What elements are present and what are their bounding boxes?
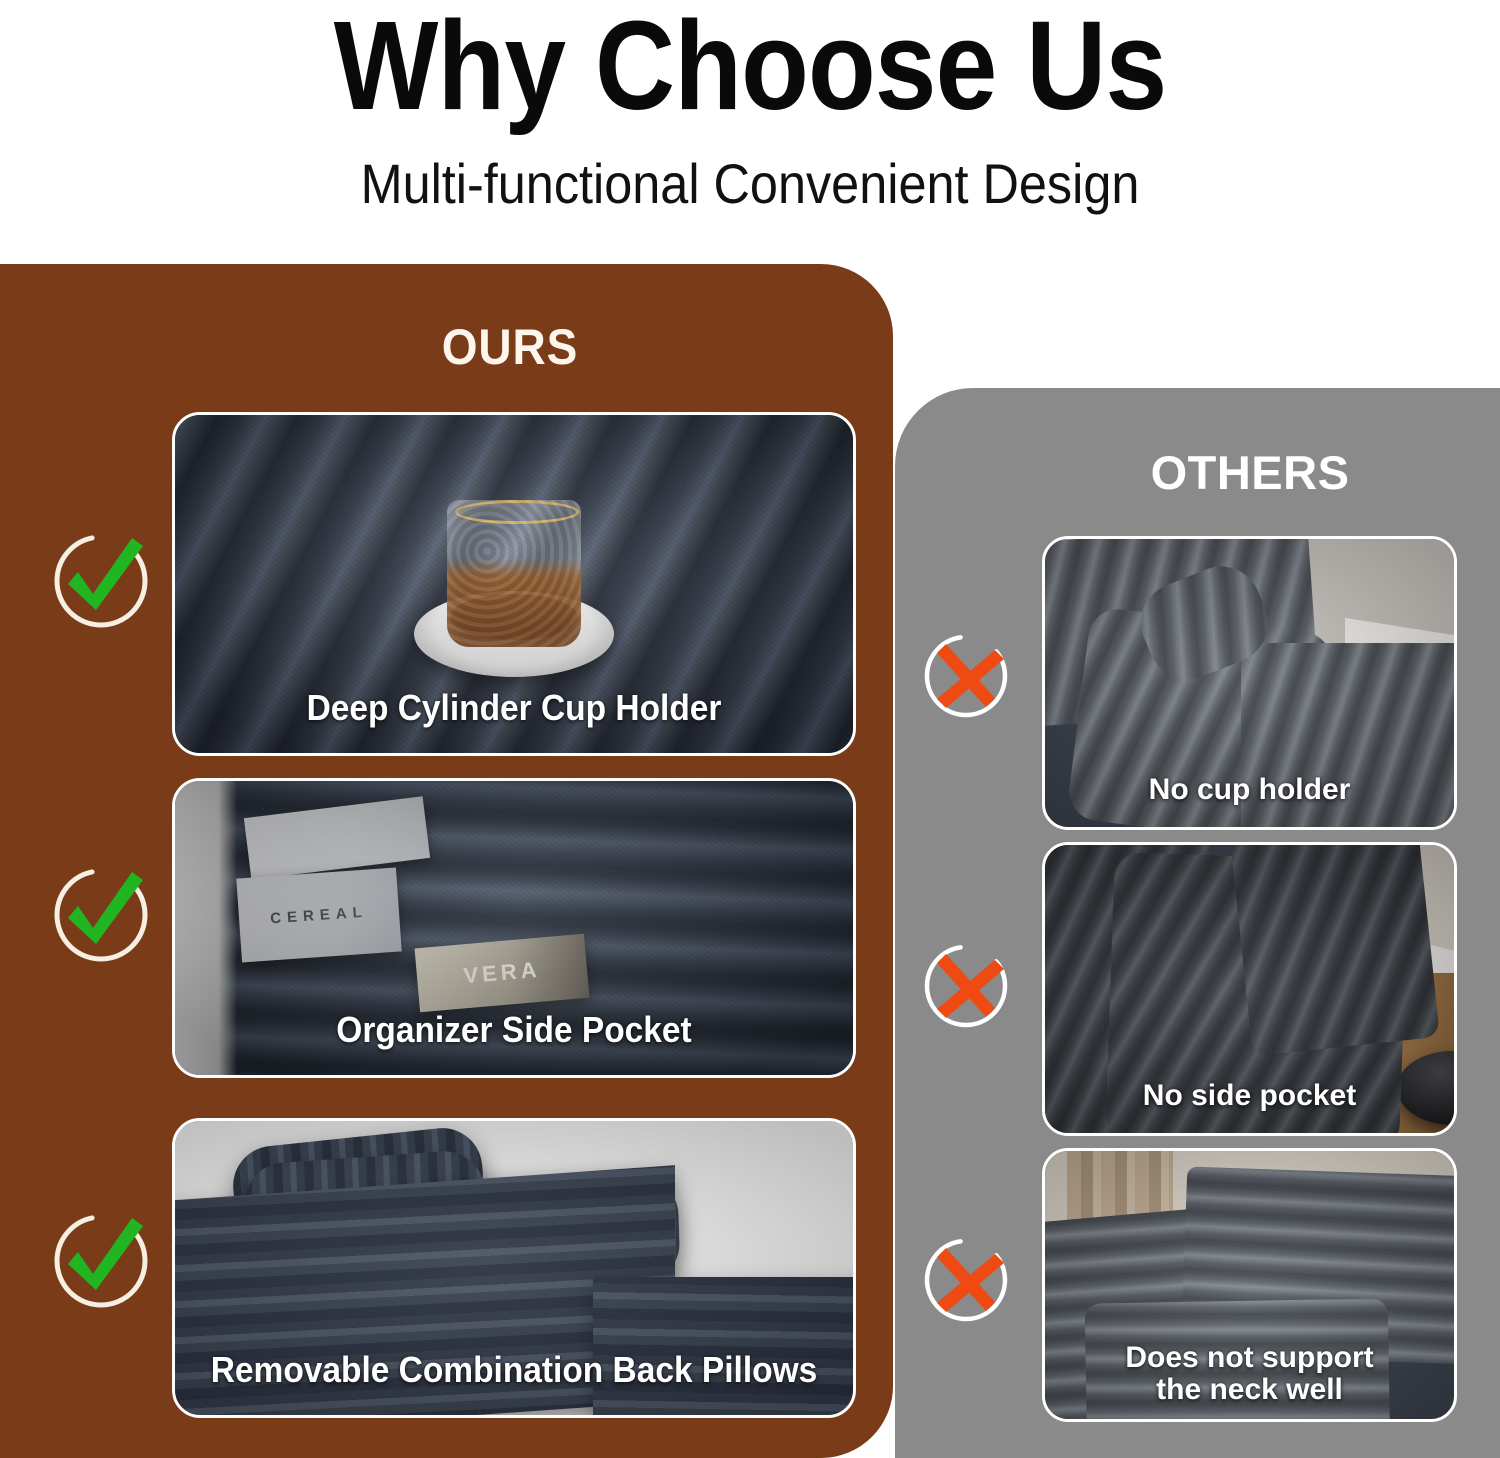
card-caption: Removable Combination Back Pillows bbox=[199, 1351, 830, 1389]
card-caption: Deep Cylinder Cup Holder bbox=[199, 689, 830, 727]
others-feature-card: No side pocket bbox=[1042, 842, 1457, 1136]
ours-feature-card: CEREAL VERA Organizer Side Pocket bbox=[172, 778, 856, 1078]
ours-feature-card: Deep Cylinder Cup Holder bbox=[172, 412, 856, 756]
ours-heading: OURS bbox=[289, 318, 731, 376]
others-feature-card: No cup holder bbox=[1042, 536, 1457, 830]
page-subtitle: Multi-functional Convenient Design bbox=[75, 150, 1425, 217]
others-heading: OTHERS bbox=[1035, 445, 1465, 500]
cross-icon bbox=[918, 1232, 1014, 1328]
caption-line-2: the neck well bbox=[1045, 1374, 1454, 1406]
check-icon bbox=[48, 1208, 154, 1314]
check-icon bbox=[48, 528, 154, 634]
card-caption: Does not support the neck well bbox=[1045, 1342, 1454, 1405]
caption-line-1: Does not support bbox=[1045, 1342, 1454, 1374]
cross-icon bbox=[918, 938, 1014, 1034]
page-header: Why Choose Us Multi-functional Convenien… bbox=[0, 0, 1500, 258]
cross-icon bbox=[918, 628, 1014, 724]
card-caption: No cup holder bbox=[1045, 774, 1454, 806]
check-icon bbox=[48, 862, 154, 968]
card-caption: Organizer Side Pocket bbox=[199, 1011, 830, 1049]
card-caption: No side pocket bbox=[1045, 1080, 1454, 1112]
page-title: Why Choose Us bbox=[90, 0, 1410, 139]
others-feature-card: Does not support the neck well bbox=[1042, 1148, 1457, 1422]
ours-feature-card: Removable Combination Back Pillows bbox=[172, 1118, 856, 1418]
